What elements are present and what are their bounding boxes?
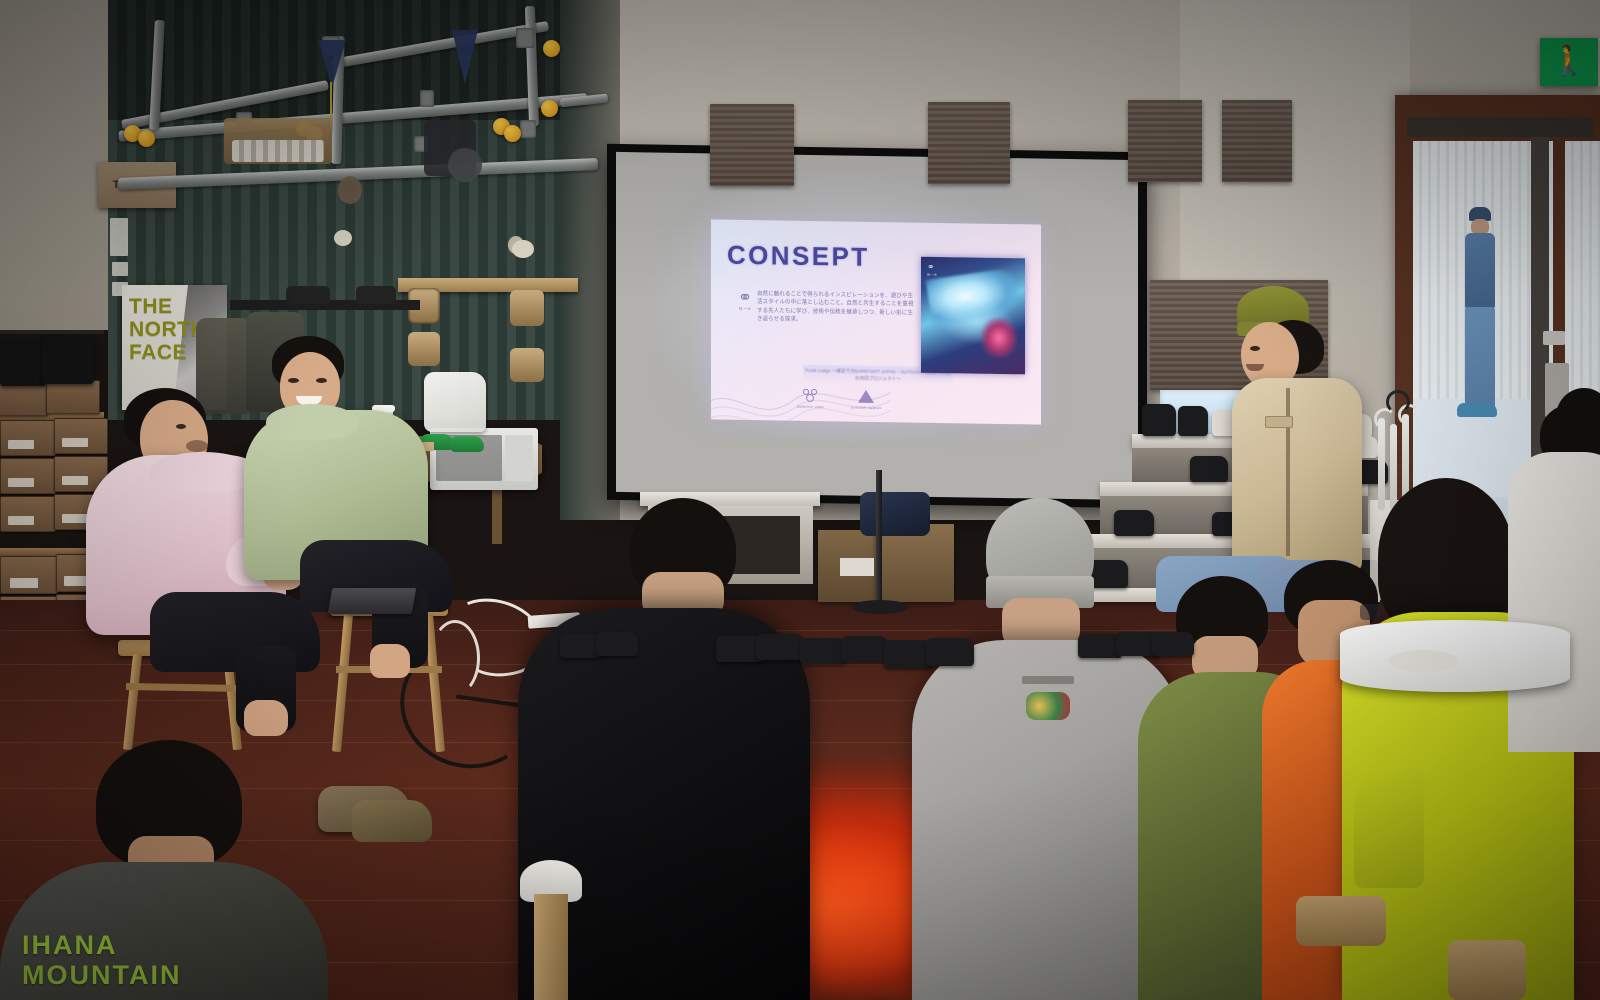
shoe-box-label xyxy=(8,516,34,525)
floor-shoe xyxy=(1152,632,1194,656)
passerby-jeans xyxy=(1465,307,1495,409)
umbrella-handle-3 xyxy=(1386,390,1410,414)
wall-chart-small xyxy=(110,218,128,256)
ihana-shirt-print: IHANA MOUNTAIN xyxy=(22,930,222,990)
hangboard-slots xyxy=(232,140,324,162)
display-boot-2 xyxy=(42,334,94,384)
speaker-green-hood xyxy=(266,404,358,440)
photo-figure xyxy=(981,318,1016,358)
window-blind-1 xyxy=(710,104,794,186)
slide-logo-left: BAREFOOT JAPAN xyxy=(797,388,824,409)
shelf-edge xyxy=(0,330,104,334)
door-lock[interactable] xyxy=(1543,331,1565,345)
display-shoe-2 xyxy=(1178,406,1208,436)
presenter-jacket-zipper xyxy=(1286,388,1290,556)
wall-chart-small-3 xyxy=(112,282,128,296)
white-plastic-bag xyxy=(424,372,486,432)
shoe-box xyxy=(0,382,48,416)
window-blind-4 xyxy=(1222,100,1292,182)
shoe-box-label xyxy=(8,440,34,449)
pipe-end-cap-7 xyxy=(543,40,560,57)
display-shoe-6 xyxy=(1190,456,1228,482)
window-blind-3 xyxy=(1128,100,1202,182)
screen-surface: CONSEPT ⚭ 柄 一木 自然に触れることで得られるインスピレーションを、遊… xyxy=(616,152,1138,500)
sweatshirt-graphic xyxy=(1026,692,1070,720)
pipe-clamp-2 xyxy=(516,28,534,48)
slide-logo-right: OUTDOOR equipment xyxy=(851,389,881,410)
pipe-end-cap-8 xyxy=(541,100,558,117)
hanging-ring-2 xyxy=(408,332,440,366)
dark-bag-on-table xyxy=(860,492,930,536)
pipe-end-cap-6 xyxy=(504,125,521,142)
running-person-icon: 🚶 xyxy=(1550,47,1587,77)
floor-shoe xyxy=(884,640,932,668)
laptop[interactable] xyxy=(328,588,417,614)
climbing-hold-4 xyxy=(512,240,534,258)
hanging-jacket-1 xyxy=(196,318,252,414)
shoe-box xyxy=(0,556,58,594)
gear-bag-2 xyxy=(356,286,396,304)
passerby-shoe xyxy=(1457,403,1497,417)
shoe-box-label xyxy=(62,514,88,523)
presentation-slide: CONSEPT ⚭ 柄 一木 自然に触れることで得られるインスピレーションを、遊… xyxy=(711,219,1041,424)
sweatshirt-graphic-text xyxy=(1022,676,1074,684)
pulley-1 xyxy=(448,148,482,182)
ihana-shirt-line-2: MOUNTAIN xyxy=(22,960,222,990)
stool-leg xyxy=(123,654,142,750)
shoe-box xyxy=(0,458,56,494)
shoe-box-label xyxy=(62,476,88,485)
slide-photo: ⚭ 柄 一木 xyxy=(921,257,1025,375)
speaker-pink-hood xyxy=(150,452,256,492)
white-stool-leg-1 xyxy=(534,894,568,1000)
shoe-box xyxy=(0,496,56,532)
screenshot-root: TOILET THE NORTH FACE 🚶 xyxy=(0,0,1600,1000)
white-plate xyxy=(1388,650,1458,672)
speaker-green-eye-l xyxy=(288,378,299,383)
speaker-pink-mouth xyxy=(186,440,208,452)
floor-shoe xyxy=(926,638,974,666)
window-blind-2 xyxy=(928,102,1010,184)
speaker-pink-eye xyxy=(176,424,186,429)
speaker-green-eye-r xyxy=(316,378,327,383)
hanging-ring-4 xyxy=(510,348,544,382)
slide-title: CONSEPT xyxy=(727,240,869,273)
speaker-green-bare-foot xyxy=(370,644,410,678)
climbing-hold-3 xyxy=(334,230,352,246)
shoe-box-label xyxy=(8,478,34,487)
microphone-stand xyxy=(876,470,882,610)
floor-shoe xyxy=(842,636,888,662)
display-shoe-8 xyxy=(1114,510,1154,536)
gear-bag-1 xyxy=(286,286,330,304)
microphone-stand-base xyxy=(852,600,908,614)
wall-chart-small-2 xyxy=(112,262,128,276)
triangle-logo-icon xyxy=(856,389,876,405)
climbing-hold-1 xyxy=(338,176,362,204)
floor-shoe xyxy=(756,634,804,660)
wood-stool-foreground-2 xyxy=(1448,940,1526,1000)
audience-white-body xyxy=(1508,452,1600,752)
floor-sneaker-tan-2 xyxy=(352,800,432,842)
pipe-clamp-6 xyxy=(520,120,536,138)
cardboard-box-label xyxy=(840,558,874,576)
microwave-panel xyxy=(505,435,533,481)
pipe-end-cap-2 xyxy=(138,130,155,147)
slide-body-icon-label: 柄 一木 xyxy=(735,306,755,311)
shoe-box xyxy=(46,380,100,414)
presenter-jacket-logo xyxy=(1265,416,1293,428)
passerby-jacket xyxy=(1465,233,1495,311)
stool-crossbar xyxy=(126,683,242,692)
display-boot-1 xyxy=(0,340,46,386)
barefoot-logo-icon xyxy=(800,388,820,404)
ihana-shirt-line-1: IHANA xyxy=(22,930,222,960)
photo-badge-icon: ⚭ 柄 一木 xyxy=(927,262,937,277)
photo-badge-label: 柄 一木 xyxy=(927,273,937,277)
stool-leg xyxy=(332,614,353,752)
hanging-ring-3 xyxy=(510,290,544,326)
speaker-pink-bare-foot xyxy=(244,700,288,736)
display-shoe-1 xyxy=(1142,404,1176,436)
shoe-box-label xyxy=(10,578,38,588)
presenter-eye xyxy=(1250,346,1260,351)
slide-body-text: 自然に触れることで得られるインスピレーションを、遊びや生活スタイルの中に落とし込… xyxy=(757,290,917,326)
umbrella-2 xyxy=(1390,424,1397,510)
pipe-clamp-4 xyxy=(420,90,434,107)
eyeglasses xyxy=(1360,604,1384,620)
projector-screen: CONSEPT ⚭ 柄 一木 自然に触れることで得られるインスピレーションを、遊… xyxy=(607,144,1147,508)
poster-brand-text: THE NORTH FACE xyxy=(129,295,206,364)
shoe-box xyxy=(0,420,56,456)
door-header-rail xyxy=(1407,117,1593,137)
outside-fence-2 xyxy=(1565,141,1600,399)
green-sandal-2 xyxy=(450,436,484,452)
slide-body-icon: ⚭ 柄 一木 xyxy=(735,288,755,322)
umbrella-1 xyxy=(1378,418,1385,510)
audience-yellow-arm xyxy=(1354,768,1424,888)
wood-stool-foreground xyxy=(1296,896,1386,946)
floor-shoe xyxy=(800,638,846,664)
floor-shoe xyxy=(596,632,638,656)
shoe-box xyxy=(54,418,108,454)
shoe-box-label xyxy=(62,438,88,447)
emergency-exit-icon: 🚶 xyxy=(1540,38,1598,86)
audience-edge-hair xyxy=(1556,388,1600,446)
presenter-fleece-jacket xyxy=(1232,378,1362,574)
